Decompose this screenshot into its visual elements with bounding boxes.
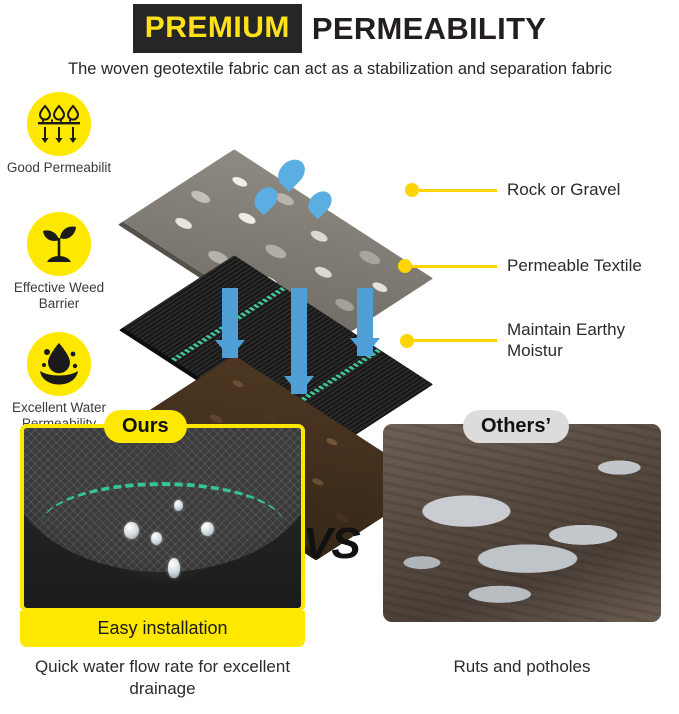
green-stripe-edge xyxy=(41,482,285,569)
water-bead xyxy=(168,558,180,578)
callout-line xyxy=(412,265,497,268)
title-row: PREMIUM PERMEABILITY xyxy=(0,4,679,53)
panel-ours: Ours Easy installation xyxy=(20,424,305,647)
ours-footer-text: Quick water flow rate for excellent drai… xyxy=(20,656,305,700)
feature-label: Effective Weed Barrier xyxy=(0,280,118,312)
callout-line xyxy=(419,189,497,192)
water-permeability-icon xyxy=(27,92,91,156)
callout-permeable-textile: Permeable Textile xyxy=(398,256,642,277)
callout-dot-icon xyxy=(400,334,414,348)
callout-label: Permeable Textile xyxy=(507,256,642,277)
page-title: PERMEABILITY xyxy=(312,13,546,44)
water-droplet-splash-icon xyxy=(27,332,91,396)
ours-photo xyxy=(20,424,305,612)
subtitle: The woven geotextile fabric can act as a… xyxy=(60,58,620,80)
feature-label: Good Permeabilit xyxy=(0,160,118,176)
water-bead xyxy=(201,522,214,536)
feature-item-permeability: Good Permeabilit xyxy=(0,92,118,176)
others-badge: Others’ xyxy=(463,410,569,443)
others-photo xyxy=(383,424,661,622)
sprout-weed-barrier-icon xyxy=(27,212,91,276)
callout-soil-moisture: Maintain Earthy Moistur xyxy=(400,320,625,361)
feature-item-water-permeability: Excellent Water Permeability xyxy=(0,332,118,432)
water-flow-arrow-icon xyxy=(291,288,307,394)
callout-label: Rock or Gravel xyxy=(507,180,620,201)
ours-badge: Ours xyxy=(104,410,187,443)
callout-label: Maintain Earthy Moistur xyxy=(507,320,625,361)
water-bead xyxy=(174,500,183,511)
vs-label: VS xyxy=(303,519,360,569)
callout-line xyxy=(414,339,497,342)
water-flow-arrow-icon xyxy=(357,288,373,356)
premium-badge: PREMIUM xyxy=(133,4,302,53)
water-bead xyxy=(124,522,139,539)
others-footer-text: Ruts and potholes xyxy=(383,656,661,678)
water-flow-arrow-icon xyxy=(222,288,238,358)
ours-caption-bar: Easy installation xyxy=(20,611,305,647)
callout-dot-icon xyxy=(398,259,412,273)
feature-item-weed-barrier: Effective Weed Barrier xyxy=(0,212,118,312)
callout-dot-icon xyxy=(405,183,419,197)
callout-rock-gravel: Rock or Gravel xyxy=(405,180,620,201)
panel-others: Others’ xyxy=(383,424,661,622)
